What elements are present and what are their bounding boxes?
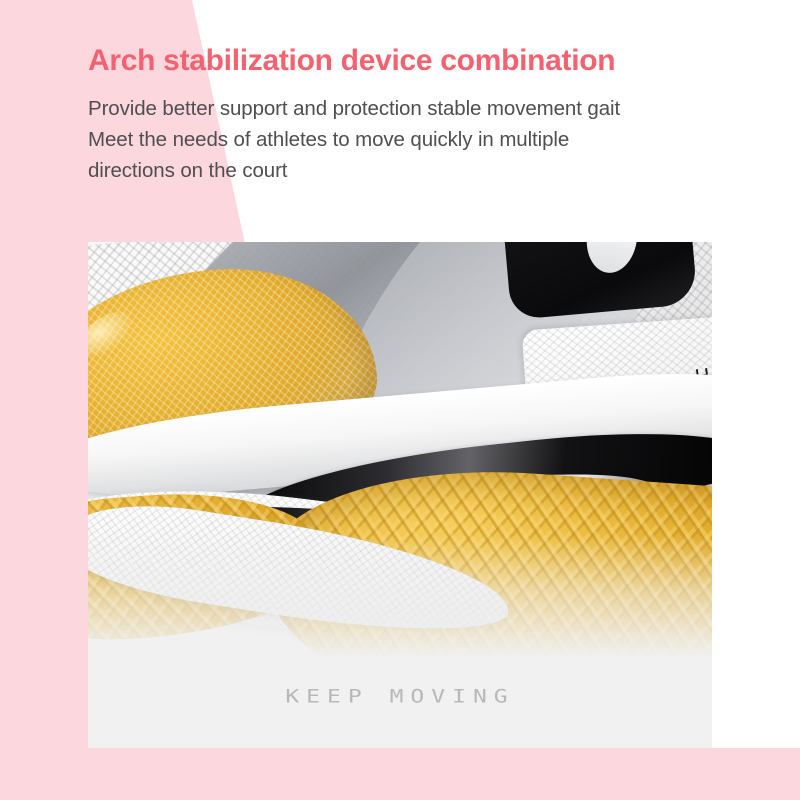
product-photo: HA KEEP MOVING <box>88 242 712 748</box>
pink-left-column-decoration <box>0 0 88 752</box>
photo-canvas: HA KEEP MOVING <box>88 242 712 748</box>
copy-block: Arch stabilization device combination Pr… <box>88 44 788 186</box>
description-text: Provide better support and protection st… <box>88 93 788 186</box>
floor-gradient-fade <box>88 535 712 748</box>
product-feature-slide: Arch stabilization device combination Pr… <box>0 0 800 800</box>
pink-bottom-band-decoration <box>0 748 800 800</box>
keep-moving-watermark: KEEP MOVING <box>88 686 712 707</box>
gum-pad-highlight <box>88 303 142 366</box>
description-line-1: Provide better support and protection st… <box>88 93 788 124</box>
description-line-2: Meet the needs of athletes to move quick… <box>88 124 788 155</box>
page-title: Arch stabilization device combination <box>88 44 788 79</box>
description-line-3: directions on the court <box>88 155 788 186</box>
